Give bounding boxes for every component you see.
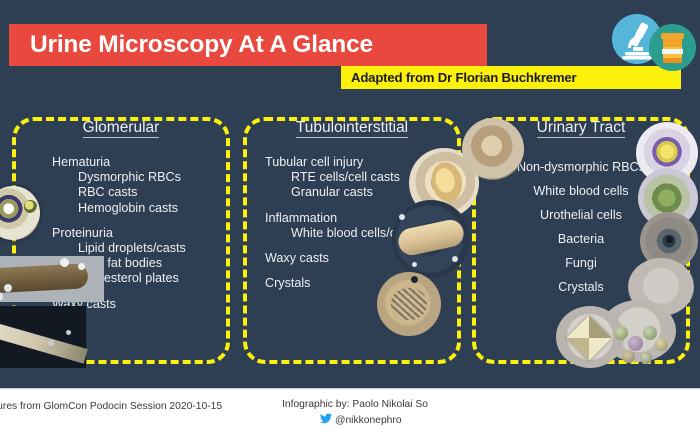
infographic-canvas: Urine Microscopy At A Glance Adapted fro… (0, 0, 700, 388)
twitter-handle-text: @nikkonephro (335, 415, 402, 426)
twitter-handle[interactable]: @nikkonephro (320, 413, 402, 427)
micro-image-fungi-bud (640, 352, 652, 364)
list-item: Lipid droplets/casts (52, 241, 218, 256)
subtitle-text: Adapted from Dr Florian Buchkremer (351, 70, 577, 85)
header-icon-group (612, 14, 698, 72)
infographic-credit: Infographic by: Paolo Nikolai So (282, 399, 428, 410)
micro-image-speck (411, 276, 418, 283)
panel-heading-text: Urinary Tract (537, 119, 626, 138)
micro-image-fungi-bud (614, 326, 628, 340)
micro-image-fungi-bud (655, 338, 668, 351)
page-title: Urine Microscopy At A Glance (30, 31, 373, 59)
micro-image-rbc-detail (24, 200, 37, 213)
urine-specimen-cup-icon (649, 24, 696, 71)
micro-image-bubble (78, 263, 85, 270)
panel-heading-text: Tubulointerstitial (296, 119, 408, 138)
micro-image-speck (452, 256, 458, 262)
twitter-icon (320, 413, 332, 427)
micro-image-bubble (48, 340, 54, 346)
infographic-root: Urine Microscopy At A Glance Adapted fro… (0, 0, 700, 441)
title-banner: Urine Microscopy At A Glance (9, 24, 487, 66)
list-item: Hemoglobin casts (52, 201, 218, 216)
footer: Pictures from GlomCon Podocin Session 20… (0, 388, 700, 441)
micro-image-cell-nucleus (666, 236, 673, 243)
micro-image-speck (412, 262, 417, 267)
panel-heading-text: Glomerular (83, 119, 160, 138)
list-item: Dysmorphic RBCs (52, 170, 218, 185)
list-item: Hematuria (52, 155, 218, 170)
micro-image-bubble (60, 258, 69, 267)
panel-heading: Tubulointerstitial (247, 119, 457, 137)
panel-heading: Glomerular (16, 119, 226, 137)
micro-image-fungi-bud (622, 350, 635, 363)
micro-image-bubble (66, 330, 71, 335)
list-item: Proteinuria (52, 226, 218, 241)
micro-image-urinary-cell-left (462, 118, 524, 180)
micro-image-waxy-cast-texture (391, 288, 427, 320)
micro-image-fungi-bud (643, 326, 657, 340)
source-credit: Pictures from GlomCon Podocin Session 20… (0, 401, 222, 412)
list-item: RBC casts (52, 185, 218, 200)
micro-image-speck (399, 214, 405, 220)
micro-image-fungi-bud (628, 336, 643, 351)
micro-image-bubble (4, 284, 12, 292)
